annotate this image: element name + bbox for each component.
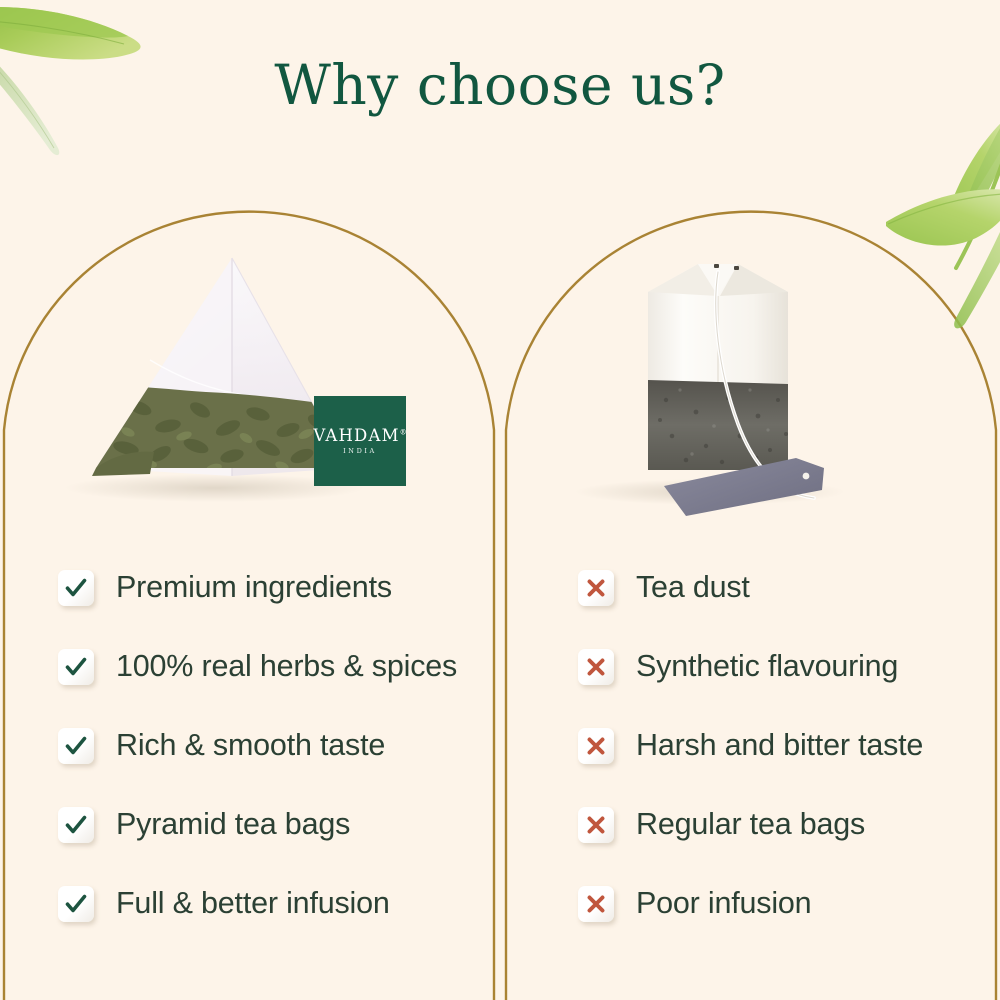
list-item: Pyramid tea bags (0, 785, 500, 864)
regular-tea-bag-image (500, 240, 1000, 520)
cross-icon (578, 728, 614, 764)
list-item-label: Full & better infusion (116, 888, 390, 919)
list-item-label: Regular tea bags (636, 809, 865, 840)
list-item-label: Tea dust (636, 572, 750, 603)
list-item: Harsh and bitter taste (500, 706, 1000, 785)
vahdam-feature-list: Premium ingredients 100% real herbs & sp… (0, 548, 500, 943)
check-icon (58, 649, 94, 685)
list-item-label: Harsh and bitter taste (636, 730, 923, 761)
others-feature-list: Tea dust Synthetic flavouring Harsh and … (500, 548, 1000, 943)
list-item-label: 100% real herbs & spices (116, 651, 457, 682)
cross-icon (578, 886, 614, 922)
why-choose-us-graphic: Why choose us? (0, 0, 1000, 1000)
list-item: 100% real herbs & spices (0, 627, 500, 706)
list-item-label: Pyramid tea bags (116, 809, 350, 840)
column-vahdam: VAHDAM® INDIA Premium ingredients (0, 0, 500, 1000)
check-icon (58, 570, 94, 606)
list-item: Tea dust (500, 548, 1000, 627)
registered-trademark-icon: ® (400, 428, 407, 436)
check-icon (58, 886, 94, 922)
check-icon (58, 807, 94, 843)
list-item: Regular tea bags (500, 785, 1000, 864)
cross-icon (578, 807, 614, 843)
list-item-label: Rich & smooth taste (116, 730, 385, 761)
pyramid-tea-bag-image: VAHDAM® INDIA (0, 240, 500, 520)
list-item: Full & better infusion (0, 864, 500, 943)
column-others: Tea dust Synthetic flavouring Harsh and … (500, 0, 1000, 1000)
check-icon (58, 728, 94, 764)
list-item: Rich & smooth taste (0, 706, 500, 785)
cross-icon (578, 570, 614, 606)
list-item-label: Poor infusion (636, 888, 811, 919)
list-item: Premium ingredients (0, 548, 500, 627)
list-item-label: Synthetic flavouring (636, 651, 898, 682)
list-item: Synthetic flavouring (500, 627, 1000, 706)
vahdam-brand-name: VAHDAM® (313, 428, 406, 445)
list-item: Poor infusion (500, 864, 1000, 943)
vahdam-logo-tag: VAHDAM® INDIA (314, 396, 406, 486)
vahdam-brand-text: VAHDAM (313, 426, 399, 445)
list-item-label: Premium ingredients (116, 572, 392, 603)
vahdam-region-label: INDIA (343, 448, 377, 455)
cross-icon (578, 649, 614, 685)
